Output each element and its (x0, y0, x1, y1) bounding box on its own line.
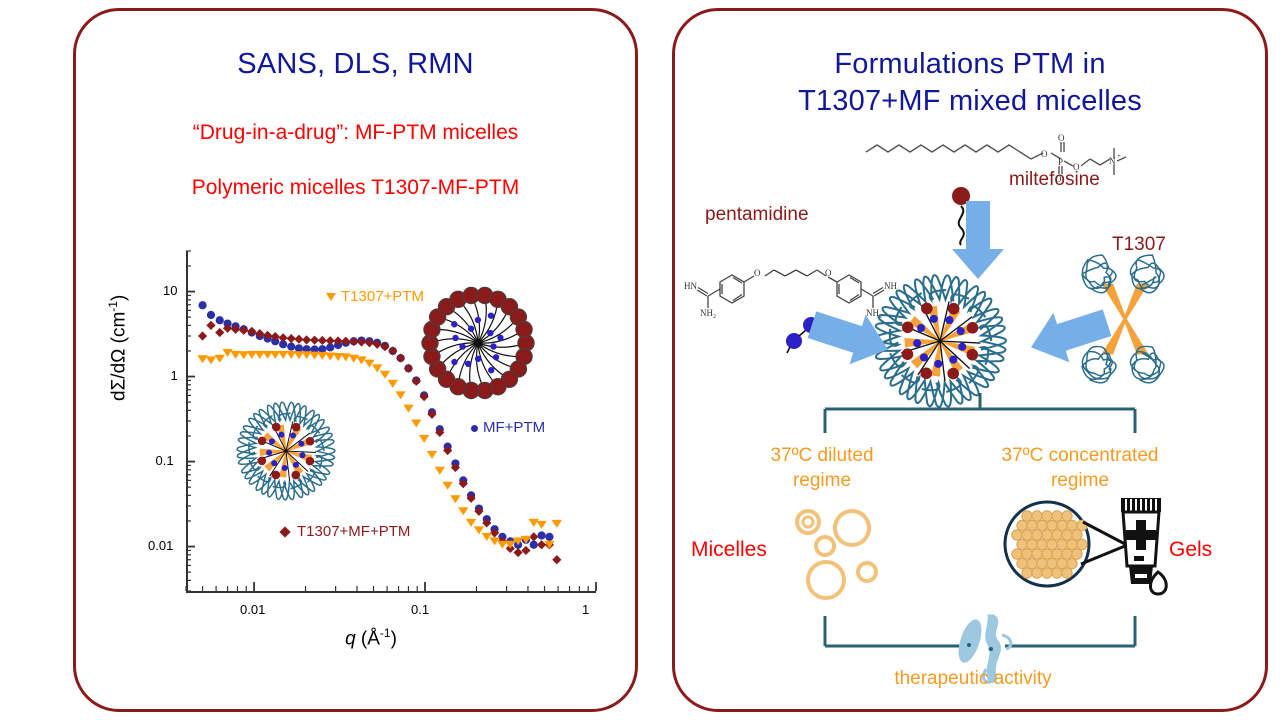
svg-text:O: O (1073, 162, 1080, 172)
svg-text:HN: HN (684, 281, 697, 291)
micelle-rings-illustration (785, 506, 935, 606)
svg-text:N: N (1109, 156, 1116, 166)
svg-text:O: O (1041, 149, 1048, 159)
label-concentrated-regime: 37ºC concentrated regime (965, 443, 1195, 493)
label-therapeutic-activity: therapeutic activity (803, 666, 1143, 691)
figure-canvas: SANS, DLS, RMN “Drug-in-a-drug”: MF-PTM … (0, 0, 1280, 720)
svg-text:+: + (1117, 152, 1121, 160)
label-micelles: Micelles (691, 538, 767, 562)
y-tick-label: 10 (163, 283, 177, 298)
legend-label-t1307-mf-ptm: T1307+MF+PTM (297, 523, 410, 540)
right-panel-title-line2: T1307+MF mixed micelles (675, 84, 1265, 119)
svg-text:O: O (1055, 174, 1062, 184)
label-diluted-regime: 37ºC diluted regime (727, 443, 917, 493)
svg-text:O: O (825, 268, 832, 278)
svg-text:O: O (754, 268, 761, 278)
svg-text:P: P (1058, 157, 1063, 167)
sans-scattering-plot: dΣ/dΩ (cm-1) q (Å-1) 0.010.111010.10.01 (126, 251, 616, 651)
legend-item-t1307-mf-ptm: T1307+MF+PTM (281, 523, 410, 540)
svg-text:NH2: NH2 (700, 308, 716, 320)
label-t1307: T1307 (1112, 234, 1166, 256)
diamond-icon (279, 526, 290, 537)
blue-arrow-right (810, 311, 892, 373)
triangle-down-icon (326, 293, 336, 301)
blue-arrow-down (948, 201, 1008, 281)
left-panel: SANS, DLS, RMN “Drug-in-a-drug”: MF-PTM … (73, 8, 638, 712)
y-tick-label: 1 (171, 368, 178, 383)
y-tick-label: 0.1 (156, 453, 174, 468)
right-panel-title-line1: Formulations PTM in (675, 47, 1265, 82)
t1307-mf-ptm-micelle-schematic (226, 391, 346, 511)
left-panel-bullet-2: Polymeric micelles T1307-MF-PTM (76, 176, 635, 200)
left-panel-bullet-1: “Drug-in-a-drug”: MF-PTM micelles (76, 121, 635, 145)
label-gels: Gels (1169, 538, 1212, 562)
x-tick-label: 1 (582, 602, 589, 617)
x-tick-label: 0.01 (240, 602, 265, 617)
right-panel: Formulations PTM in T1307+MF mixed micel… (672, 8, 1268, 712)
legend-item-mf-ptm: MF+PTM (471, 419, 545, 436)
legend-label-mf-ptm: MF+PTM (483, 419, 545, 436)
circle-icon (471, 425, 478, 432)
label-pentamidine: pentamidine (705, 204, 809, 226)
gel-tube-illustration (995, 496, 1180, 606)
y-tick-label: 0.01 (148, 538, 173, 553)
x-tick-label: 0.1 (411, 602, 429, 617)
mf-ptm-micelle-schematic (411, 276, 546, 411)
left-panel-title: SANS, DLS, RMN (76, 47, 635, 82)
legend-label-t1307-ptm: T1307+PTM (341, 288, 424, 305)
blue-arrow-left (1027, 309, 1109, 371)
legend-item-t1307-ptm: T1307+PTM (326, 288, 424, 305)
svg-text:O: O (1058, 133, 1065, 143)
upper-bracket (815, 393, 1145, 437)
